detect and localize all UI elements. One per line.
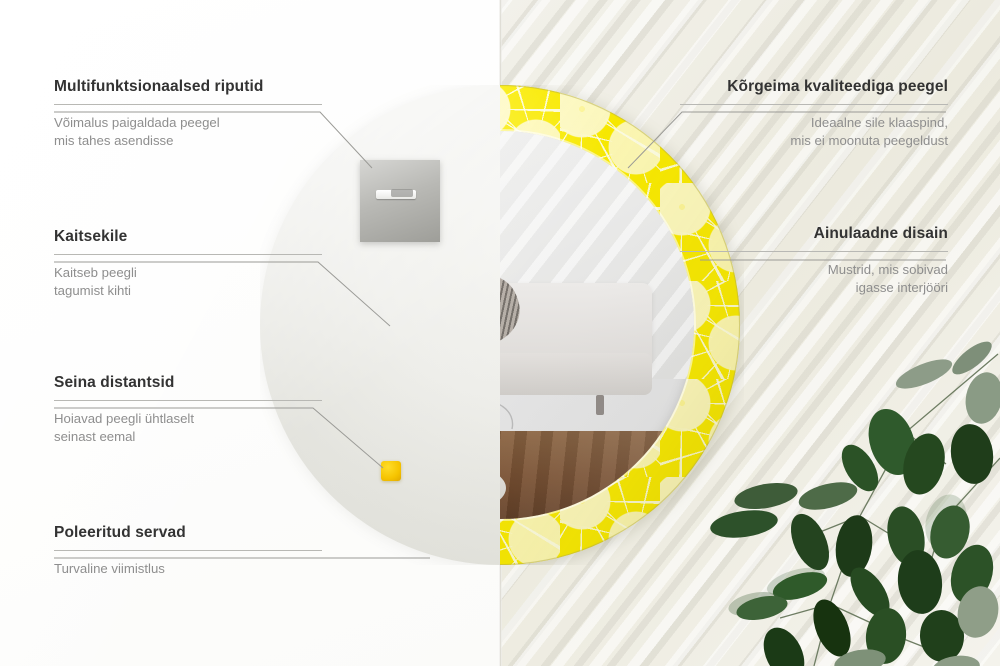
- callout-protective-film: Kaitsekile Kaitseb peegli tagumist kihti: [54, 228, 322, 301]
- sofa-leg: [596, 395, 604, 415]
- callout-description: Mustrid, mis sobivad igasse interjööri: [680, 261, 948, 298]
- callout-description-line2: igasse interjööri: [856, 280, 948, 295]
- callout-description-line1: Võimalus paigaldada peegel: [54, 115, 220, 130]
- callout-highest-quality-mirror: Kõrgeima kvaliteediga peegel Ideaalne si…: [680, 78, 948, 151]
- callout-title: Kõrgeima kvaliteediga peegel: [680, 78, 948, 97]
- callout-title: Poleeritud servad: [54, 524, 322, 543]
- callout-title: Kaitsekile: [54, 228, 322, 247]
- callout-title: Multifunktsionaalsed riputid: [54, 78, 322, 97]
- callout-rule: [54, 550, 322, 551]
- callout-description: Hoiavad peegli ühtlaselt seinast eemal: [54, 410, 322, 447]
- mirror-backing-sheen: [260, 85, 500, 565]
- wall-spacer-pad: [381, 461, 401, 481]
- reflected-sofa: [500, 283, 656, 433]
- reflected-floor: [500, 431, 694, 519]
- callout-rule: [54, 254, 322, 255]
- callout-rule: [680, 104, 948, 105]
- callout-rule: [54, 400, 322, 401]
- keyhole-slot-icon: [376, 190, 416, 199]
- mirror-front-half: [500, 85, 744, 565]
- callout-polished-edges: Poleeritud servad Turvaline viimistlus: [54, 524, 322, 578]
- callout-wall-spacers: Seina distantsid Hoiavad peegli ühtlasel…: [54, 374, 322, 447]
- callout-description-line1: Kaitseb peegli: [54, 265, 137, 280]
- callout-title: Seina distantsid: [54, 374, 322, 393]
- callout-description: Ideaalne sile klaaspind, mis ei moonuta …: [680, 114, 948, 151]
- callout-rule: [680, 251, 948, 252]
- callout-unique-design: Ainulaadne disain Mustrid, mis sobivad i…: [680, 225, 948, 298]
- callout-description-line2: mis ei moonuta peegeldust: [790, 133, 948, 148]
- infographic-canvas: Multifunktsionaalsed riputid Võimalus pa…: [0, 0, 1000, 666]
- mounting-plate-hanger: [360, 160, 440, 242]
- callout-description-line2: tagumist kihti: [54, 283, 131, 298]
- callout-description-line1: Ideaalne sile klaaspind,: [811, 115, 948, 130]
- callout-description-line1: Mustrid, mis sobivad: [828, 262, 948, 277]
- callout-title: Ainulaadne disain: [680, 225, 948, 244]
- mirror-glass: [500, 131, 694, 519]
- sofa-seat: [500, 353, 652, 395]
- callout-description: Kaitseb peegli tagumist kihti: [54, 264, 322, 301]
- callout-description-line1: Turvaline viimistlus: [54, 561, 165, 576]
- callout-description-line1: Hoiavad peegli ühtlaselt: [54, 411, 194, 426]
- callout-rule: [54, 104, 322, 105]
- callout-description-line2: seinast eemal: [54, 429, 135, 444]
- callout-multifunctional-hangers: Multifunktsionaalsed riputid Võimalus pa…: [54, 78, 322, 151]
- mirror-back-half: [260, 85, 500, 565]
- callout-description-line2: mis tahes asendisse: [54, 133, 173, 148]
- round-mirror: [260, 85, 740, 565]
- callout-description: Turvaline viimistlus: [54, 560, 322, 579]
- callout-description: Võimalus paigaldada peegel mis tahes ase…: [54, 114, 322, 151]
